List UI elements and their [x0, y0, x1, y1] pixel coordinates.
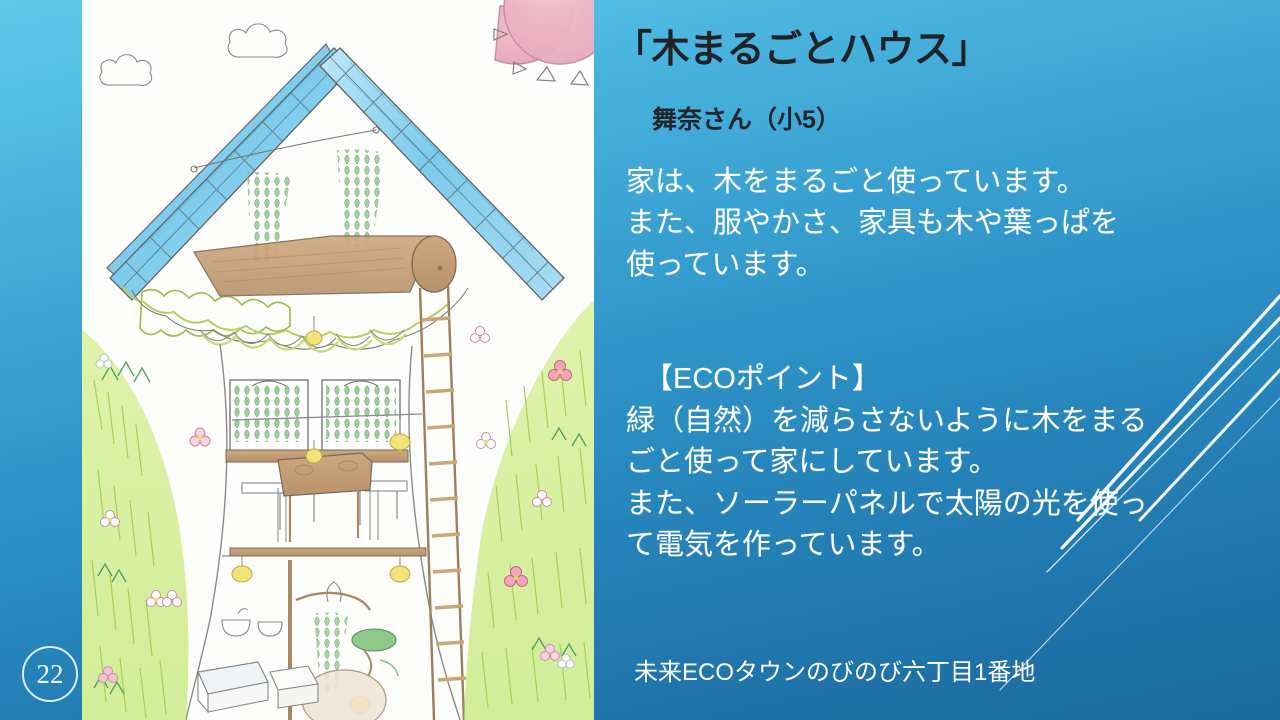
drawing-canvas [82, 0, 594, 720]
page-number-text: 22 [37, 661, 64, 688]
slide-canvas: 「木まるごとハウス」 舞奈さん（小5） 家は、木をまるごと使っています。 また、… [0, 0, 1280, 720]
author-name: 舞奈さん（小5） [652, 100, 841, 136]
child-drawing-image [82, 0, 594, 720]
eco-point-paragraph: 緑（自然）を減らさないように木をまる ごと使って家にしています。 また、ソーラー… [626, 405, 1148, 561]
eco-point-block: 【ECOポイント】緑（自然）を減らさないように木をまる ごと使って家にしています… [626, 318, 1148, 567]
eco-point-heading: 【ECOポイント】 [644, 359, 1148, 400]
page-number-badge: 22 [22, 646, 78, 702]
footer-address: 未来ECOタウンのびのび六丁目1番地 [634, 652, 1035, 687]
description-paragraph: 家は、木をまるごと使っています。 また、服やかさ、家具も木や葉っぱを 使っていま… [626, 162, 1119, 286]
slide-title: 「木まるごとハウス」 [614, 18, 989, 73]
